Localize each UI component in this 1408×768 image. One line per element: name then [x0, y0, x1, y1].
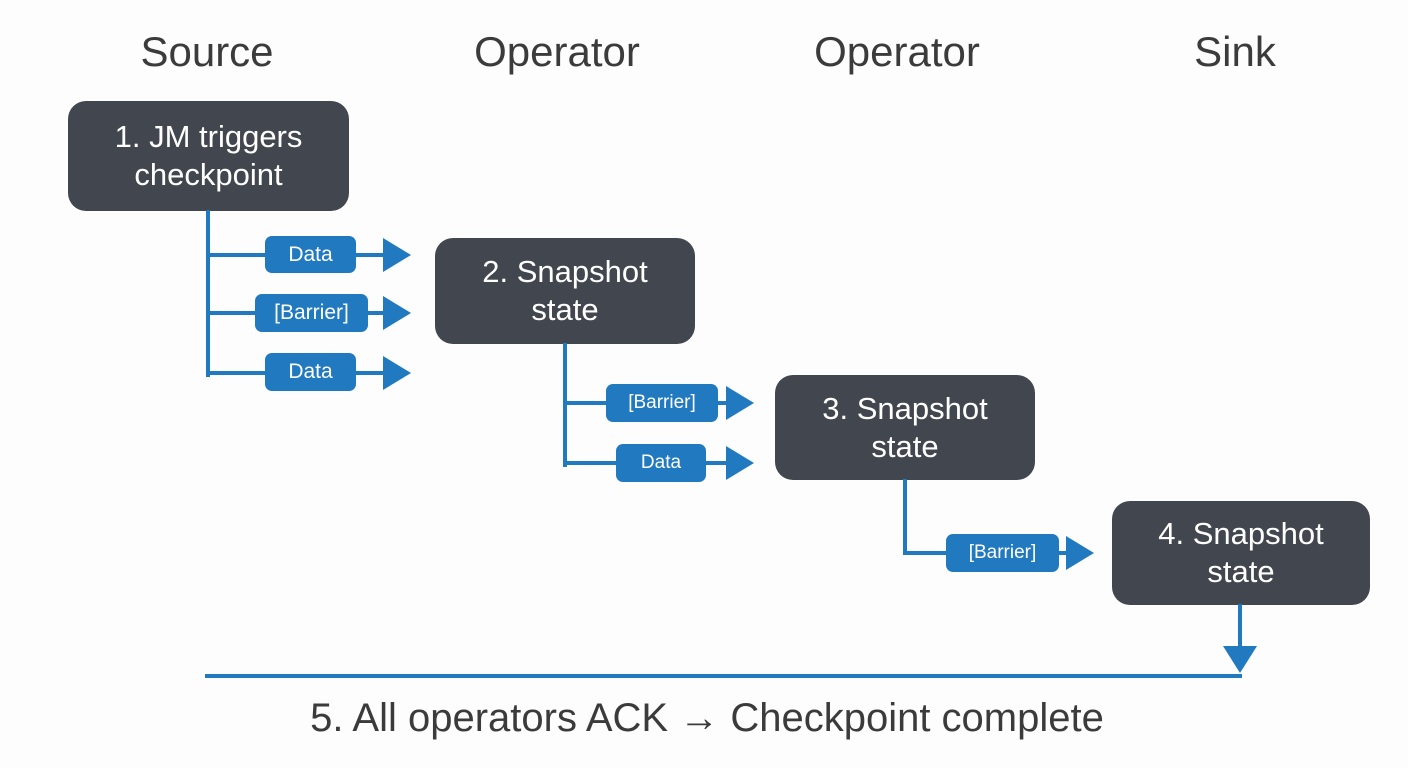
- connector-op1-branch-2: [563, 461, 621, 465]
- connector-op1-trunk: [563, 343, 567, 467]
- pill-data-3: Data: [616, 444, 706, 482]
- stage-box-2-line1: 2. Snapshot: [482, 254, 647, 289]
- stage-box-3-snapshot-state: 3. Snapshot state: [775, 375, 1035, 480]
- stage-box-1-jm-triggers-checkpoint: 1. JM triggers checkpoint: [68, 101, 349, 211]
- connector-source-branch-1: [206, 253, 268, 257]
- stage-box-1-label: 1. JM triggers checkpoint: [115, 118, 303, 194]
- column-header-sink: Sink: [1194, 24, 1276, 80]
- stage-box-4-line1: 4. Snapshot: [1158, 516, 1323, 551]
- stage-box-1-line1: 1. JM triggers: [115, 119, 303, 154]
- pill-data-1: Data: [265, 236, 356, 273]
- connector-op2-trunk: [903, 479, 907, 553]
- stage-box-4-label: 4. Snapshot state: [1158, 515, 1323, 591]
- connector-sink-to-ack: [1238, 604, 1242, 648]
- pill-barrier-2: [Barrier]: [606, 384, 718, 422]
- connector-op2-branch-1: [903, 551, 951, 555]
- connector-source-branch-3-tail: [355, 371, 385, 375]
- stage-box-2-label: 2. Snapshot state: [482, 253, 647, 329]
- pill-data-2: Data: [265, 353, 356, 391]
- arrow-right-icon-source-3: [383, 356, 411, 390]
- connector-source-branch-2: [206, 311, 258, 315]
- pill-barrier-3: [Barrier]: [946, 534, 1059, 572]
- arrow-right-icon-op1-1: [726, 386, 754, 420]
- connector-source-trunk: [206, 210, 210, 377]
- column-header-operator-1: Operator: [474, 24, 640, 80]
- arrow-right-icon-op2-1: [1066, 536, 1094, 570]
- connector-source-branch-1-tail: [355, 253, 385, 257]
- ack-caption: 5. All operators ACK → Checkpoint comple…: [310, 692, 1104, 744]
- stage-box-2-line2: state: [531, 292, 598, 327]
- column-header-operator-2: Operator: [814, 24, 980, 80]
- stage-box-4-snapshot-state: 4. Snapshot state: [1112, 501, 1370, 605]
- pill-barrier-1: [Barrier]: [255, 294, 368, 332]
- stage-box-3-line2: state: [871, 429, 938, 464]
- column-header-source: Source: [140, 24, 273, 80]
- connector-source-branch-3: [206, 371, 268, 375]
- arrow-right-icon-source-2: [383, 296, 411, 330]
- stage-box-1-line2: checkpoint: [134, 157, 282, 192]
- ack-horizontal-line: [205, 674, 1242, 678]
- stage-box-4-line2: state: [1207, 554, 1274, 589]
- stage-box-2-snapshot-state: 2. Snapshot state: [435, 238, 695, 344]
- arrow-right-icon-op1-2: [726, 446, 754, 480]
- diagram-canvas: Source Operator Operator Sink 1. JM trig…: [0, 0, 1408, 768]
- arrow-right-icon-source-1: [383, 238, 411, 272]
- stage-box-3-line1: 3. Snapshot: [822, 391, 987, 426]
- arrow-down-icon-sink-ack: [1223, 646, 1257, 673]
- stage-box-3-label: 3. Snapshot state: [822, 390, 987, 466]
